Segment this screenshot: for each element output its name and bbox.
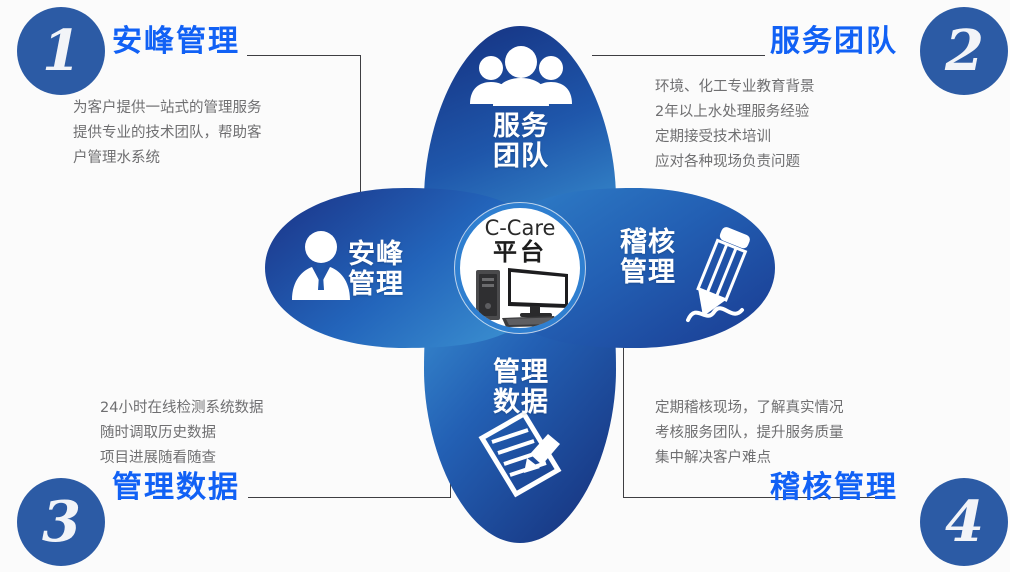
quadrant-title-1: 安峰管理 [112, 27, 240, 57]
quadrant-2-line: 环境、化工专业教育背景 [655, 75, 815, 100]
infographic-canvas: 服务 团队 [0, 0, 1010, 572]
quadrant-2-line: 定期接受技术培训 [655, 125, 815, 150]
hub-title: C-Care [460, 217, 580, 240]
badge-number-2: 2 [920, 7, 1008, 95]
petal-label-audit-management: 稽核 管理 [620, 228, 710, 288]
quadrant-1-line: 户管理水系统 [73, 146, 262, 171]
quadrant-2-line: 2年以上水处理服务经验 [655, 100, 815, 125]
badge-number-4: 4 [920, 478, 1008, 566]
badge-number-3: 3 [17, 478, 105, 566]
quadrant-title-4: 稽核管理 [770, 473, 898, 503]
quadrant-4-line: 集中解决客户难点 [655, 446, 844, 471]
quadrant-3-line: 24小时在线检测系统数据 [100, 396, 263, 421]
badge-number-1: 1 [17, 7, 105, 95]
quadrant-3-line: 随时调取历史数据 [100, 421, 263, 446]
desktop-computer-icon [474, 266, 570, 332]
quadrant-2-line: 应对各种现场负责问题 [655, 150, 815, 175]
quadrant-body-1: 为客户提供一站式的管理服务 提供专业的技术团队，帮助客 户管理水系统 [73, 96, 262, 171]
center-hub-c-care-platform[interactable]: C-Care 平台 [455, 203, 585, 333]
quadrant-title-3: 管理数据 [112, 473, 240, 503]
hub-subtitle: 平台 [460, 239, 580, 265]
quadrant-1-line: 提供专业的技术团队，帮助客 [73, 121, 262, 146]
quadrant-1-line: 为客户提供一站式的管理服务 [73, 96, 262, 121]
quadrant-4-line: 考核服务团队，提升服务质量 [655, 421, 844, 446]
quadrant-3-line: 项目进展随看随查 [100, 446, 263, 471]
quadrant-title-2: 服务团队 [770, 27, 898, 57]
quadrant-body-2: 环境、化工专业教育背景 2年以上水处理服务经验 定期接受技术培训 应对各种现场负… [655, 75, 815, 175]
quadrant-4-line: 定期稽核现场，了解真实情况 [655, 396, 844, 421]
quadrant-body-3: 24小时在线检测系统数据 随时调取历史数据 项目进展随看随查 [100, 396, 263, 471]
quadrant-body-4: 定期稽核现场，了解真实情况 考核服务团队，提升服务质量 集中解决客户难点 [655, 396, 844, 471]
